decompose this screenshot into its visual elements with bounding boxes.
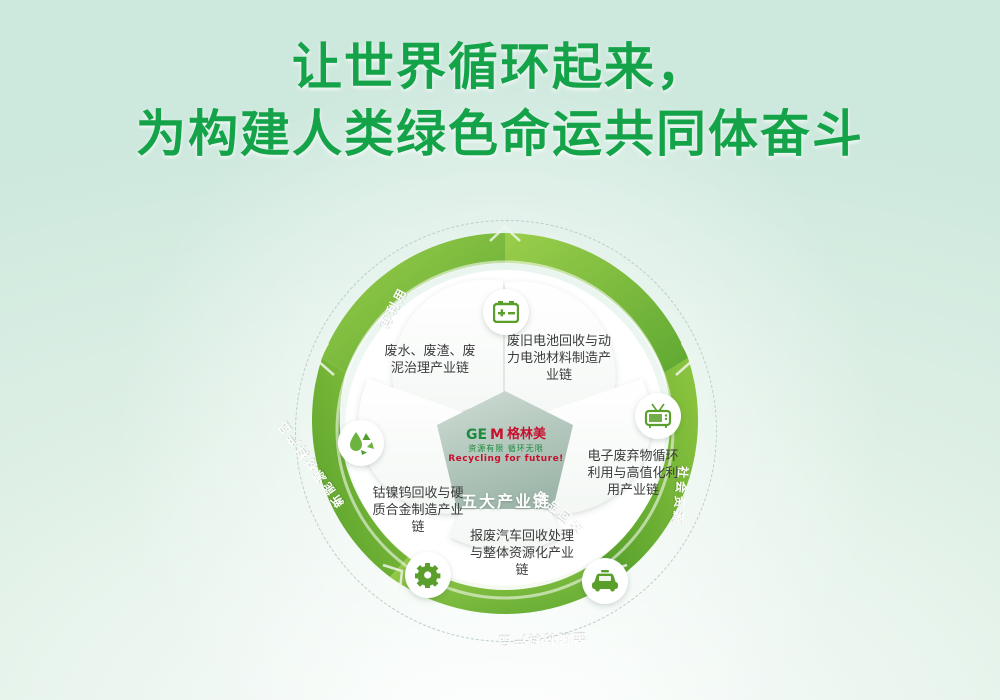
car-icon-bubble[interactable] bbox=[582, 558, 628, 604]
industry-chain-diagram: 废品回收 再利用 社会资源 新能源材料产品 金属材料产品 废旧电池回收与动力电池… bbox=[290, 215, 720, 675]
brand-slogan-cn: 资源有限 循环无限 bbox=[468, 444, 544, 453]
chain-label-ewaste: 电子废弃物循环利用与高值化利用产业链 bbox=[583, 448, 683, 499]
tv-icon-bubble[interactable] bbox=[635, 393, 681, 439]
brand-logo-latin-accent: M bbox=[490, 428, 504, 442]
page-title: 让世界循环起来， 为构建人类绿色命运共同体奋斗 bbox=[0, 34, 1000, 168]
ring-label-metal-materials: 金属材料产品 bbox=[495, 630, 586, 650]
chain-label-battery: 废旧电池回收与动力电池材料制造产业链 bbox=[503, 333, 615, 384]
chain-label-vehicle: 报废汽车回收处理与整体资源化产业链 bbox=[470, 528, 574, 579]
battery-icon-bubble[interactable] bbox=[483, 289, 529, 335]
brand-logo: GEM 格林美 bbox=[466, 427, 546, 442]
gear-icon bbox=[415, 562, 441, 588]
water-recycle-icon-bubble[interactable] bbox=[338, 420, 384, 466]
battery-icon bbox=[493, 301, 519, 323]
brand-slogan-en: Recycling for future! bbox=[448, 454, 564, 464]
water-recycle-icon bbox=[347, 430, 375, 456]
title-line-2: 为构建人类绿色命运共同体奋斗 bbox=[0, 101, 1000, 168]
gear-icon-bubble[interactable] bbox=[405, 552, 451, 598]
brand-logo-cn: 格林美 bbox=[507, 428, 546, 442]
brand-logo-latin: GE bbox=[466, 428, 487, 442]
chain-label-water: 废水、废渣、废泥治理产业链 bbox=[380, 343, 480, 377]
car-icon bbox=[590, 570, 620, 592]
center-logo-panel: GEM 格林美 资源有限 循环无限 Recycling for future! … bbox=[440, 417, 572, 525]
center-heading: 五大产业链 bbox=[461, 488, 551, 512]
tv-icon bbox=[644, 403, 672, 429]
title-line-1: 让世界循环起来， bbox=[0, 34, 1000, 101]
